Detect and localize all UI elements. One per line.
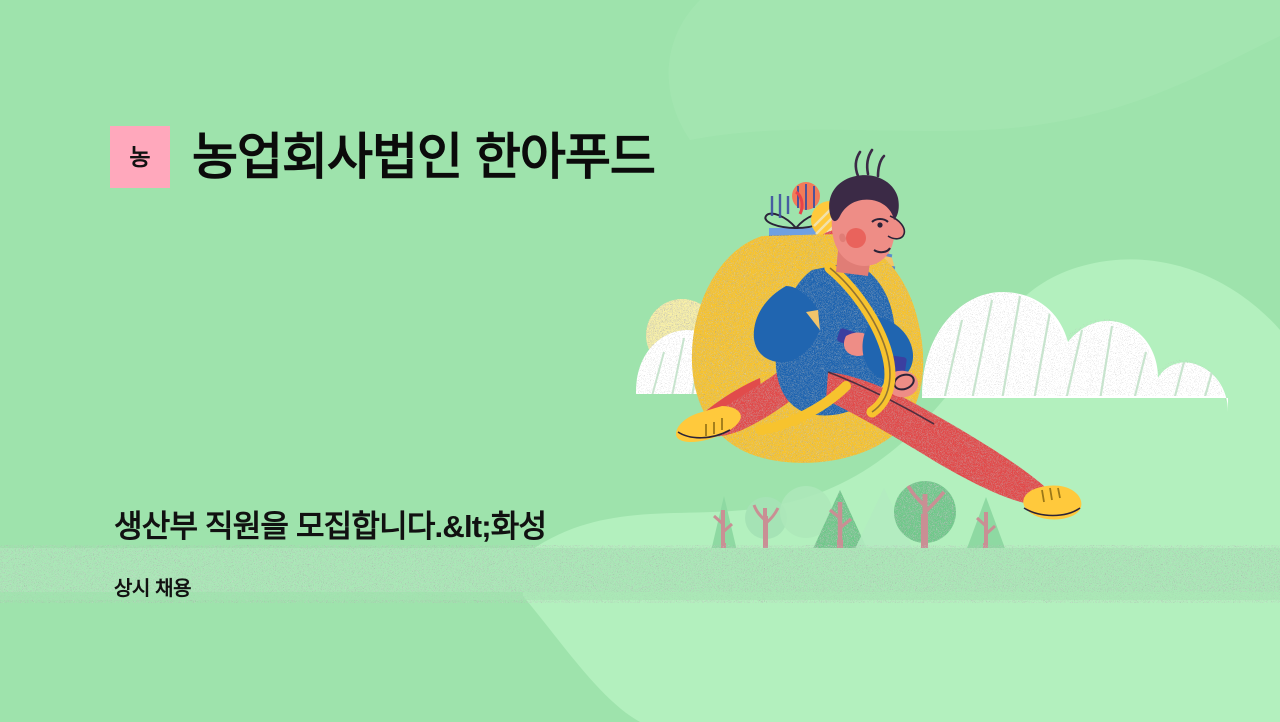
job-posting-title: 생산부 직원을 모집합니다.&lt;화성 (114, 501, 546, 546)
employment-type-label: 상시 채용 (114, 572, 191, 601)
company-logo-badge[interactable]: 농 (110, 126, 170, 188)
company-name: 농업회사법인 한아푸드 (192, 131, 655, 184)
runner-cheek (846, 228, 866, 248)
ball-striped-top (792, 182, 820, 210)
ground-strip (0, 545, 1280, 603)
company-logo-character: 농 (129, 146, 150, 169)
job-posting-card: 농 농업회사법인 한아푸드 생산부 직원을 모집합니다.&lt;화성 상시 채용 (0, 0, 1280, 722)
background-illustration (0, 0, 1280, 722)
company-header: 농 농업회사법인 한아푸드 (110, 126, 655, 188)
